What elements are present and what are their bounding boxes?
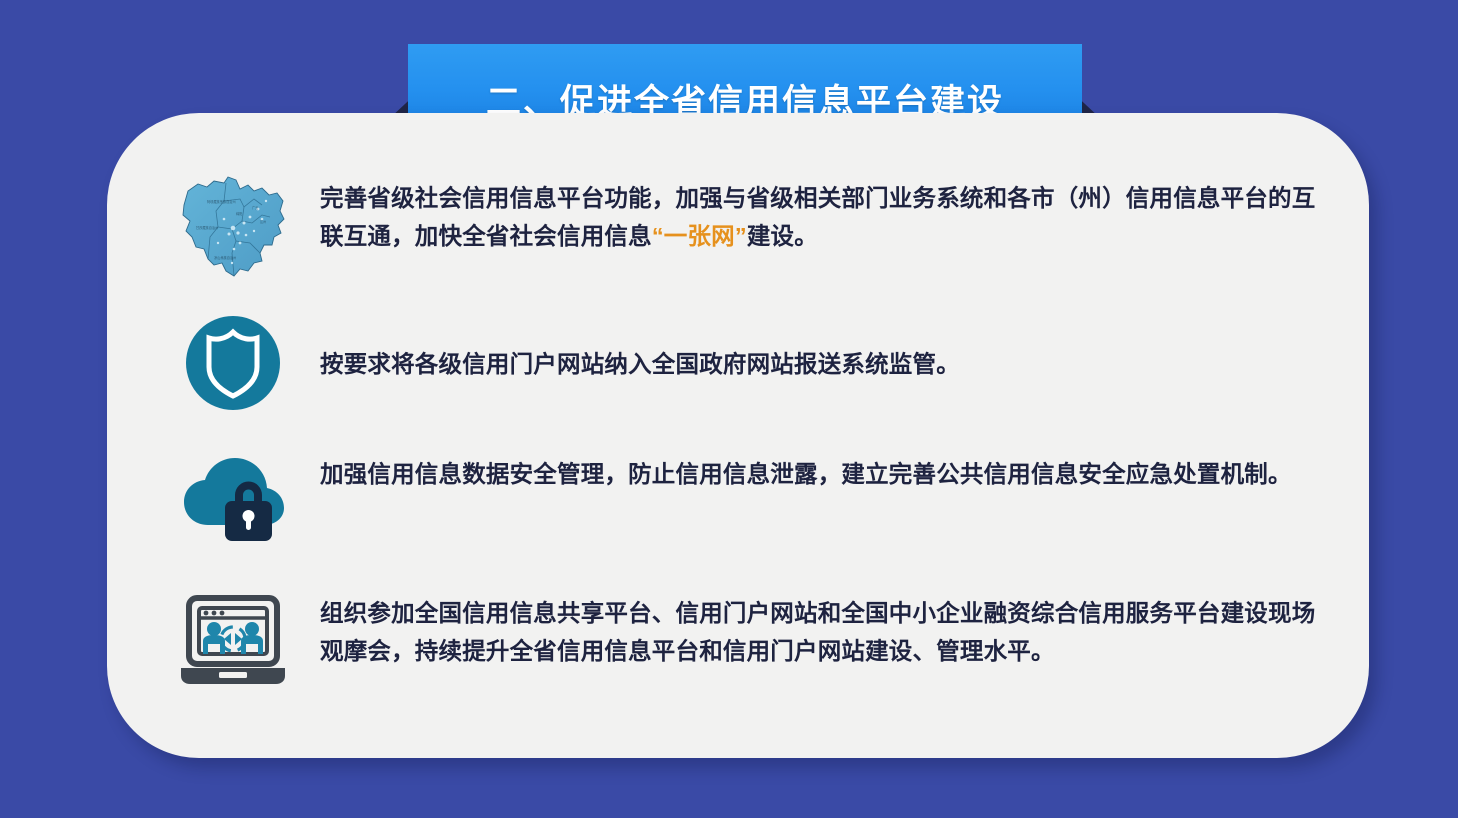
shield-icon — [183, 313, 283, 413]
svg-text:广元: 广元 — [252, 205, 259, 210]
list-item-text: 加强信用信息数据安全管理，防止信用信息泄露，建立完善公共信用信息安全应急处置机制… — [320, 455, 1319, 493]
icon-cell — [155, 590, 310, 690]
svg-text:甘孜藏族自治州: 甘孜藏族自治州 — [196, 225, 218, 230]
text-cell: 完善省级社会信用信息平台功能，加强与省级相关部门业务系统和各市（州）信用信息平台… — [310, 169, 1319, 255]
list-item: 阿坝藏族羌族自治州 甘孜藏族自治州 凉山彝族自治州 绵阳 广元 达州 完善省级社… — [155, 169, 1319, 293]
slide-root: 二、促进全省信用信息平台建设 — [0, 0, 1458, 818]
sichuan-map-icon: 阿坝藏族羌族自治州 甘孜藏族自治州 凉山彝族自治州 绵阳 广元 达州 — [174, 171, 292, 283]
cloud-lock-icon — [178, 451, 288, 547]
list-item-text: 完善省级社会信用信息平台功能，加强与省级相关部门业务系统和各市（州）信用信息平台… — [320, 179, 1319, 255]
svg-text:凉山彝族自治州: 凉山彝族自治州 — [214, 255, 236, 260]
icon-cell: 阿坝藏族羌族自治州 甘孜藏族自治州 凉山彝族自治州 绵阳 广元 达州 — [155, 169, 310, 283]
text-cell: 加强信用信息数据安全管理，防止信用信息泄露，建立完善公共信用信息安全应急处置机制… — [310, 449, 1319, 493]
text-cell: 按要求将各级信用门户网站纳入全国政府网站报送系统监管。 — [310, 311, 1319, 383]
svg-text:达州: 达州 — [260, 219, 266, 224]
list-item: 按要求将各级信用门户网站纳入全国政府网站报送系统监管。 — [155, 311, 1319, 435]
svg-text:绵阳: 绵阳 — [236, 211, 242, 216]
icon-cell — [155, 449, 310, 547]
icon-cell — [155, 311, 310, 413]
laptop-collaboration-icon — [173, 592, 293, 690]
text-cell: 组织参加全国信用信息共享平台、信用门户网站和全国中小企业融资综合信用服务平台建设… — [310, 590, 1319, 670]
text-segment-2: 建设。 — [747, 223, 818, 249]
text-highlight: “一张网” — [652, 223, 747, 249]
svg-text:阿坝藏族羌族自治州: 阿坝藏族羌族自治州 — [207, 199, 236, 204]
list-item: 组织参加全国信用信息共享平台、信用门户网站和全国中小企业融资综合信用服务平台建设… — [155, 590, 1319, 714]
content-rows: 阿坝藏族羌族自治州 甘孜藏族自治州 凉山彝族自治州 绵阳 广元 达州 完善省级社… — [155, 165, 1319, 714]
list-item-text: 按要求将各级信用门户网站纳入全国政府网站报送系统监管。 — [320, 345, 1319, 383]
list-item: 加强信用信息数据安全管理，防止信用信息泄露，建立完善公共信用信息安全应急处置机制… — [155, 449, 1319, 573]
list-item-text: 组织参加全国信用信息共享平台、信用门户网站和全国中小企业融资综合信用服务平台建设… — [320, 594, 1319, 670]
content-card: 阿坝藏族羌族自治州 甘孜藏族自治州 凉山彝族自治州 绵阳 广元 达州 完善省级社… — [107, 113, 1369, 758]
